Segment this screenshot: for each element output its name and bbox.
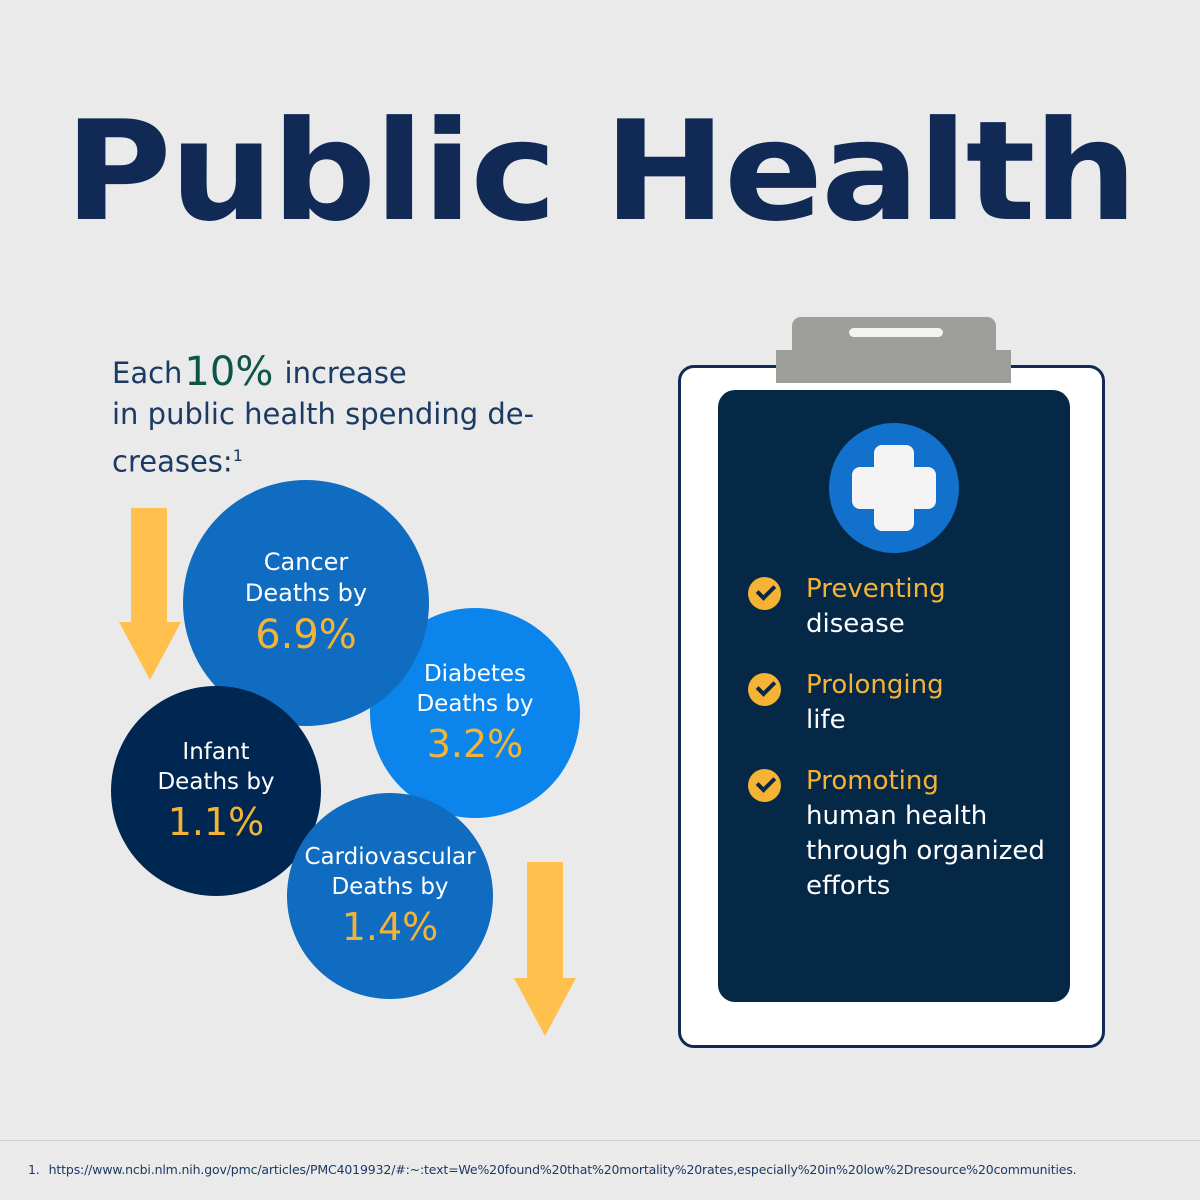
down-arrow-left-icon — [119, 508, 181, 680]
bubble-sub: Deaths by — [245, 579, 367, 607]
bubble-sub: Deaths by — [331, 874, 448, 900]
lead-before: Each — [112, 356, 182, 390]
list-item: Promoting human health through organized… — [748, 764, 1058, 904]
list-item-text: Preventing disease — [806, 572, 946, 642]
bubble-sub: Deaths by — [416, 691, 533, 717]
lead-line-2: in public health spending de- — [112, 397, 534, 431]
lead-line-3: creases: — [112, 445, 233, 479]
down-arrow-right-icon — [510, 862, 580, 1038]
list-item-text: Promoting human health through organized… — [806, 764, 1058, 904]
bubble-cardiovascular: Cardiovascular Deaths by 1.4% — [287, 793, 493, 999]
arrow-head — [514, 978, 576, 1036]
bubble-category: Diabetes — [424, 661, 526, 687]
bubble-label: Diabetes Deaths by — [406, 659, 543, 719]
list-item-body: disease — [806, 609, 905, 639]
bubble-category: Cardiovascular — [304, 844, 475, 870]
benefits-list: Preventing disease Prolonging life Promo… — [748, 572, 1058, 930]
list-item: Preventing disease — [748, 572, 1058, 642]
medical-cross-icon — [829, 423, 959, 553]
bubble-value: 1.4% — [342, 904, 439, 950]
clipboard-clip-slot — [849, 328, 943, 337]
bubble-label: Cardiovascular Deaths by — [294, 842, 485, 902]
bubble-sub: Deaths by — [157, 769, 274, 795]
lead-after: increase — [275, 356, 406, 390]
footnote-divider — [0, 1140, 1200, 1141]
bubble-value: 1.1% — [168, 799, 265, 845]
list-item-heading: Preventing — [806, 574, 946, 604]
arrow-shaft — [527, 862, 563, 980]
checkmark-icon — [756, 580, 777, 601]
footnote: 1.https://www.ncbi.nlm.nih.gov/pmc/artic… — [28, 1162, 1178, 1178]
bubble-value: 3.2% — [427, 721, 524, 767]
bubble-label: Infant Deaths by — [147, 737, 284, 797]
checkmark-icon — [756, 772, 777, 793]
lead-footnote-marker: 1 — [233, 446, 243, 465]
check-circle-icon — [748, 769, 781, 802]
arrow-head — [119, 622, 181, 680]
bubble-label: Cancer Deaths by — [235, 547, 377, 609]
list-item: Prolonging life — [748, 668, 1058, 738]
bubble-category: Cancer — [264, 548, 349, 576]
footnote-number: 1. — [28, 1162, 40, 1177]
cross-vertical-bar — [874, 445, 914, 531]
list-item-body: life — [806, 705, 846, 735]
infographic-canvas: Public Health Each10% increase in public… — [0, 0, 1200, 1200]
list-item-heading: Prolonging — [806, 670, 944, 700]
list-item-body: human health through organized efforts — [806, 801, 1045, 901]
list-item-text: Prolonging life — [806, 668, 944, 738]
checkmark-icon — [756, 676, 777, 697]
check-circle-icon — [748, 577, 781, 610]
footnote-url[interactable]: https://www.ncbi.nlm.nih.gov/pmc/article… — [49, 1162, 1077, 1177]
check-circle-icon — [748, 673, 781, 706]
bubble-value: 6.9% — [255, 611, 357, 659]
clipboard-clip-top — [792, 317, 996, 352]
bubble-infant: Infant Deaths by 1.1% — [111, 686, 321, 896]
arrow-shaft — [131, 508, 167, 624]
lead-paragraph: Each10% increase in public health spendi… — [112, 352, 582, 483]
lead-highlight-percent: 10% — [182, 349, 275, 395]
page-title: Public Health — [0, 103, 1200, 241]
clipboard-clip-base — [776, 350, 1011, 383]
list-item-heading: Promoting — [806, 766, 939, 796]
bubble-category: Infant — [182, 739, 249, 765]
